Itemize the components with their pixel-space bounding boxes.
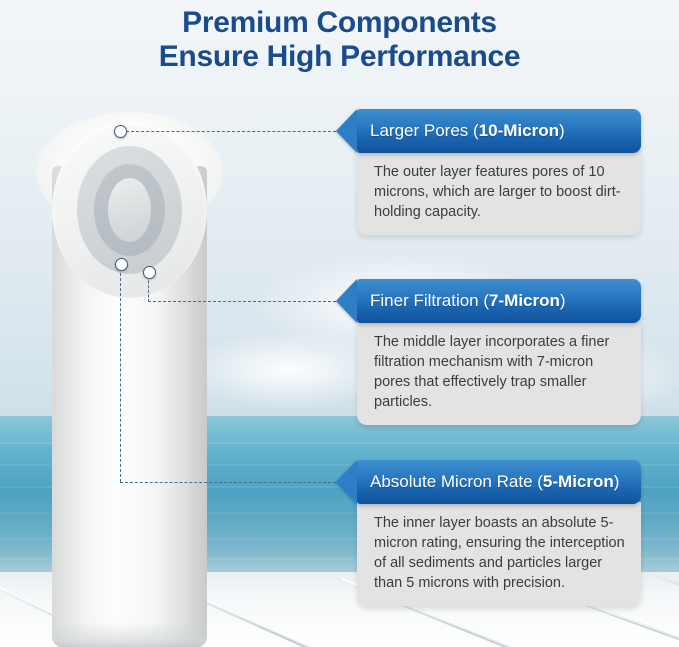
callout-title-outer-layer: Larger Pores (10-Micron)	[357, 121, 565, 141]
filter-cartridge-image	[22, 104, 237, 647]
callout-card-middle-layer[interactable]: Finer Filtration (7-Micron) The middle l…	[336, 279, 641, 425]
connector-line-middle-layer-vertical	[148, 276, 149, 302]
page-title-line2: Ensure High Performance	[0, 40, 679, 74]
cartridge-core-bore	[108, 178, 151, 242]
callout-micron-label: 10-Micron	[479, 121, 559, 140]
connector-line-middle-layer	[148, 301, 336, 302]
callout-title-text: Absolute Micron Rate	[370, 472, 537, 491]
callout-header-outer-layer[interactable]: Larger Pores (10-Micron)	[357, 109, 641, 153]
callout-card-outer-layer[interactable]: Larger Pores (10-Micron) The outer layer…	[336, 109, 641, 235]
callout-micron-label: 5-Micron	[543, 472, 614, 491]
callout-body-middle-layer: The middle layer incorporates a finer fi…	[357, 321, 641, 425]
callout-title-text: Larger Pores	[370, 121, 473, 140]
callout-card-inner-layer[interactable]: Absolute Micron Rate (5-Micron) The inne…	[336, 460, 641, 606]
callout-body-inner-layer: The inner layer boasts an absolute 5-mic…	[357, 502, 641, 606]
callout-micron-label: 7-Micron	[489, 291, 560, 310]
callout-title-text: Finer Filtration	[370, 291, 483, 310]
connector-line-inner-layer-vertical	[120, 268, 121, 482]
callout-paren-close: )	[559, 121, 565, 140]
marker-dot-inner-layer	[115, 258, 128, 271]
page-title-line1: Premium Components	[182, 6, 497, 39]
page-title: Premium Components Ensure High Performan…	[0, 0, 679, 74]
marker-dot-outer-layer	[114, 125, 127, 138]
infographic-canvas: Premium Components Ensure High Performan…	[0, 0, 679, 647]
callout-paren-close: )	[614, 472, 620, 491]
callout-title-inner-layer: Absolute Micron Rate (5-Micron)	[357, 472, 619, 492]
cartridge-base	[52, 622, 207, 647]
marker-dot-middle-layer	[143, 266, 156, 279]
connector-line-outer-layer	[126, 131, 336, 132]
callout-body-outer-layer: The outer layer features pores of 10 mic…	[357, 151, 641, 235]
callout-header-inner-layer[interactable]: Absolute Micron Rate (5-Micron)	[357, 460, 641, 504]
callout-paren-close: )	[560, 291, 566, 310]
callout-title-middle-layer: Finer Filtration (7-Micron)	[357, 291, 566, 311]
connector-line-inner-layer	[120, 482, 336, 483]
callout-header-middle-layer[interactable]: Finer Filtration (7-Micron)	[357, 279, 641, 323]
